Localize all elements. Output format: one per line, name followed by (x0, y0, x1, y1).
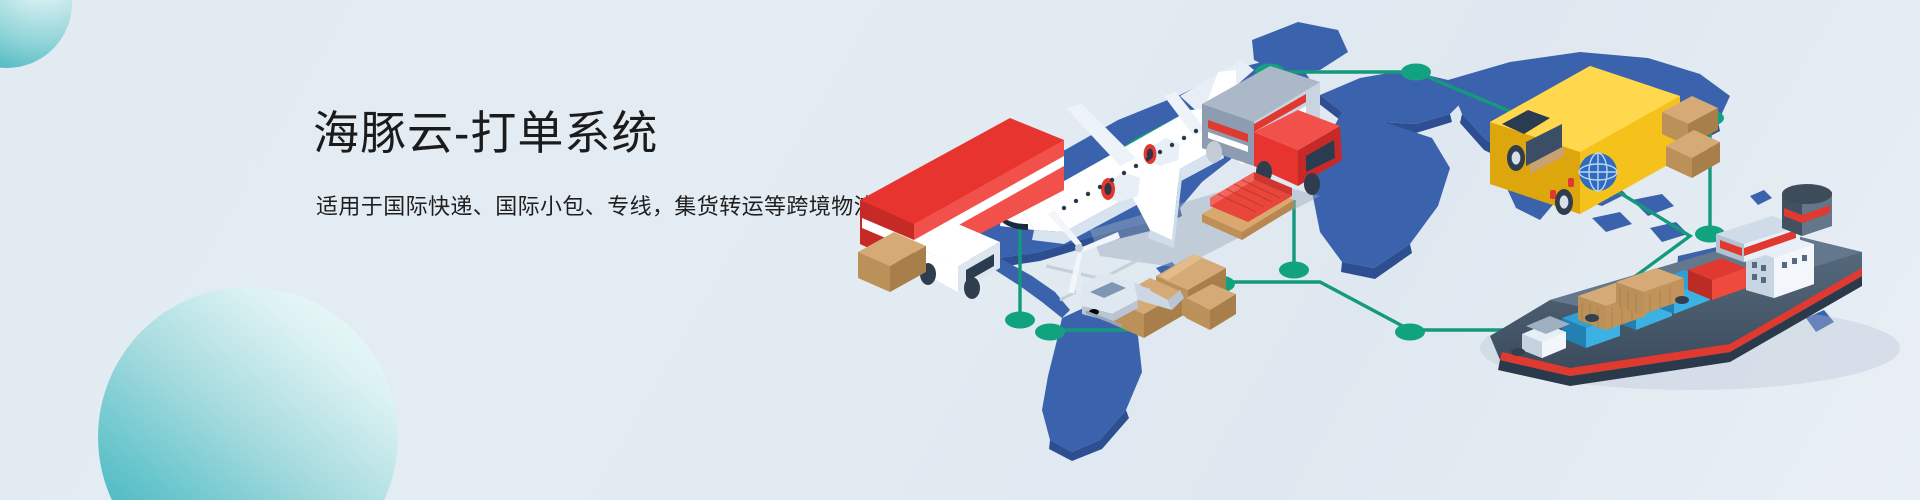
decorative-circle-bottom-left (98, 287, 398, 500)
logistics-illustration (850, 0, 1920, 500)
hero-banner: 海豚云-打单系统 适用于国际快递、国际小包、专线，集货转运等跨境物流包裹处理 (0, 0, 1920, 500)
decorative-circle-top-left (0, 0, 72, 68)
